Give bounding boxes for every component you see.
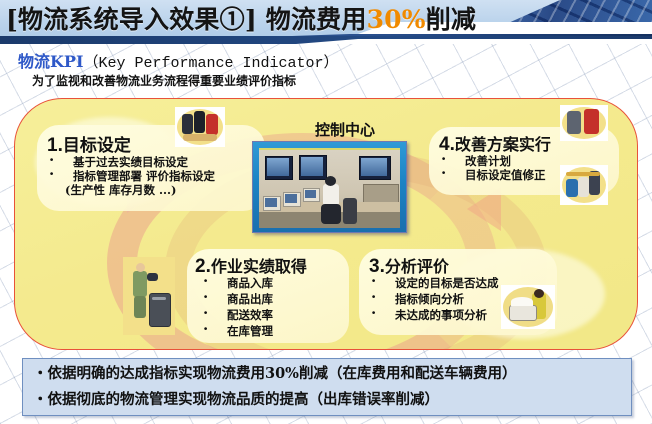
- step-3-bullet-3: 未达成的事项分析: [369, 307, 499, 323]
- wall-monitor-2-screen: [301, 157, 323, 176]
- step-3-bullet-1: 设定的目标是否达成: [369, 275, 499, 291]
- page-title-percent: 30%: [367, 5, 426, 34]
- kpi-heading: 物流KPI（Key Performance Indicator）: [18, 48, 338, 72]
- step-4-bullet-2: 目标设定值修正: [439, 168, 546, 182]
- page-title: [物流系统导入效果①] 物流费用30%削减: [6, 2, 476, 38]
- clipart-person-right: [584, 109, 599, 134]
- clipart-analyst-head: [534, 289, 544, 298]
- office-discussion-clipart-icon: [560, 165, 608, 205]
- clipart-person-c: [206, 114, 218, 135]
- step-card-1[interactable]: 1.目标设定 基于过去实绩目标设定 指标管理部署 评价指标设定 (生产性 库存月…: [37, 125, 265, 211]
- summary-line-1-percent: 30%: [265, 365, 299, 382]
- step-3-title-text: 分析评价: [385, 257, 449, 276]
- step-2-title-text: 作业实绩取得: [211, 257, 307, 276]
- console-pc-3-screen: [305, 190, 316, 198]
- clipart-worker-head: [136, 263, 145, 272]
- step-1-bullets: 基于过去实绩目标设定 指标管理部署 评价指标设定 (生产性 库存月数 ...): [47, 155, 215, 197]
- page-title-suffix: 削减: [426, 5, 476, 34]
- step-3-bullets: 设定的目标是否达成 指标倾向分析 未达成的事项分析: [369, 275, 499, 323]
- step-4-bullet-1: 改善计划: [439, 154, 546, 168]
- step-2-bullets: 商品入库 商品出库 配送效率 在库管理: [201, 275, 273, 339]
- step-2-bullet-3: 配送效率: [201, 307, 273, 323]
- summary-line-2: ・依据彻底的物流管理实现物流品质的提高（出库错误率削减）: [23, 387, 631, 413]
- page-title-prefix: [物流系统导入效果①] 物流费用: [6, 5, 367, 34]
- step-2-bullet-2: 商品出库: [201, 291, 273, 307]
- step-4-bullets: 改善计划 目标设定值修正: [439, 154, 546, 182]
- wall-monitor-3-screen: [361, 158, 387, 176]
- meeting-clipart-icon: [175, 107, 225, 147]
- clipart-table: [183, 134, 217, 141]
- step-1-title-text: 目标设定: [63, 136, 131, 156]
- operator-lower-body: [321, 204, 341, 224]
- step-1-title: 1.目标设定: [47, 131, 131, 157]
- step-2-bullet-4: 在库管理: [201, 323, 273, 339]
- control-center-label: 控制中心: [285, 119, 405, 140]
- clipart-desk: [566, 172, 600, 176]
- clipart-server-slot: [152, 297, 166, 300]
- kpi-heading-en: （Key Performance Indicator）: [83, 55, 338, 72]
- summary-line-1: ・依据明确的达成指标实现物流费用30%削减（在库费用和配送车辆费用）: [23, 359, 631, 387]
- step-4-title-text: 改善方案实行: [455, 135, 551, 154]
- kpi-subtitle: 为了监视和改善物流业务流程得重要业绩评价指标: [32, 72, 296, 89]
- console-pc-1-screen: [265, 198, 277, 207]
- clipart-worker-legs: [134, 296, 146, 318]
- console-pc-2-screen: [285, 194, 297, 203]
- cycle-panel: 1.目标设定 基于过去实绩目标设定 指标管理部署 评价指标设定 (生产性 库存月…: [14, 98, 638, 350]
- step-card-2[interactable]: 2.作业实绩取得 商品入库 商品出库 配送效率 在库管理: [187, 249, 349, 343]
- summary-line-1-a: ・依据明确的达成指标实现物流费用: [33, 365, 265, 382]
- kpi-heading-cn: 物流KPI: [18, 52, 83, 71]
- clipart-person-left: [567, 111, 581, 134]
- step-2-bullet-1: 商品入库: [201, 275, 273, 291]
- wall-monitor-1-screen: [267, 158, 289, 176]
- slide-root: [物流系统导入效果①] 物流费用30%削减 物流KPI（Key Performa…: [0, 0, 652, 424]
- clipart-person-b: [194, 111, 205, 133]
- control-center-photo: [259, 148, 400, 228]
- clipart-worker-body: [133, 271, 147, 297]
- warehouse-worker-clipart-icon: [123, 257, 175, 335]
- step-1-bullet-2: 指标管理部署 评价指标设定: [47, 169, 215, 183]
- step-4-title: 4.改善方案实行: [439, 131, 551, 156]
- clipart-paper: [511, 297, 533, 306]
- clipart-person-seated: [566, 179, 578, 197]
- operator-shirt: [323, 184, 339, 206]
- step-1-bullet-1: 基于过去实绩目标设定: [47, 155, 215, 169]
- step-1-bullet-3: (生产性 库存月数 ...): [47, 183, 215, 197]
- clipart-person-a: [182, 114, 193, 134]
- summary-box: ・依据明确的达成指标实现物流费用30%削减（在库费用和配送车辆费用） ・依据彻底…: [22, 358, 632, 416]
- summary-line-1-b: 削减（在库费用和配送车辆费用）: [299, 365, 517, 382]
- clipart-handheld-scanner: [147, 273, 158, 281]
- step-3-bullet-2: 指标倾向分析: [369, 291, 499, 307]
- slide-header: [物流系统导入效果①] 物流费用30%削减: [0, 0, 652, 44]
- clipart-printer: [509, 305, 537, 321]
- control-center-photo-frame: [252, 141, 407, 233]
- clipart-person-center: [578, 177, 589, 197]
- operator-head: [325, 176, 336, 186]
- analyst-clipart-icon: [501, 285, 555, 329]
- operator-chair: [343, 198, 357, 224]
- handshake-clipart-icon: [560, 105, 608, 141]
